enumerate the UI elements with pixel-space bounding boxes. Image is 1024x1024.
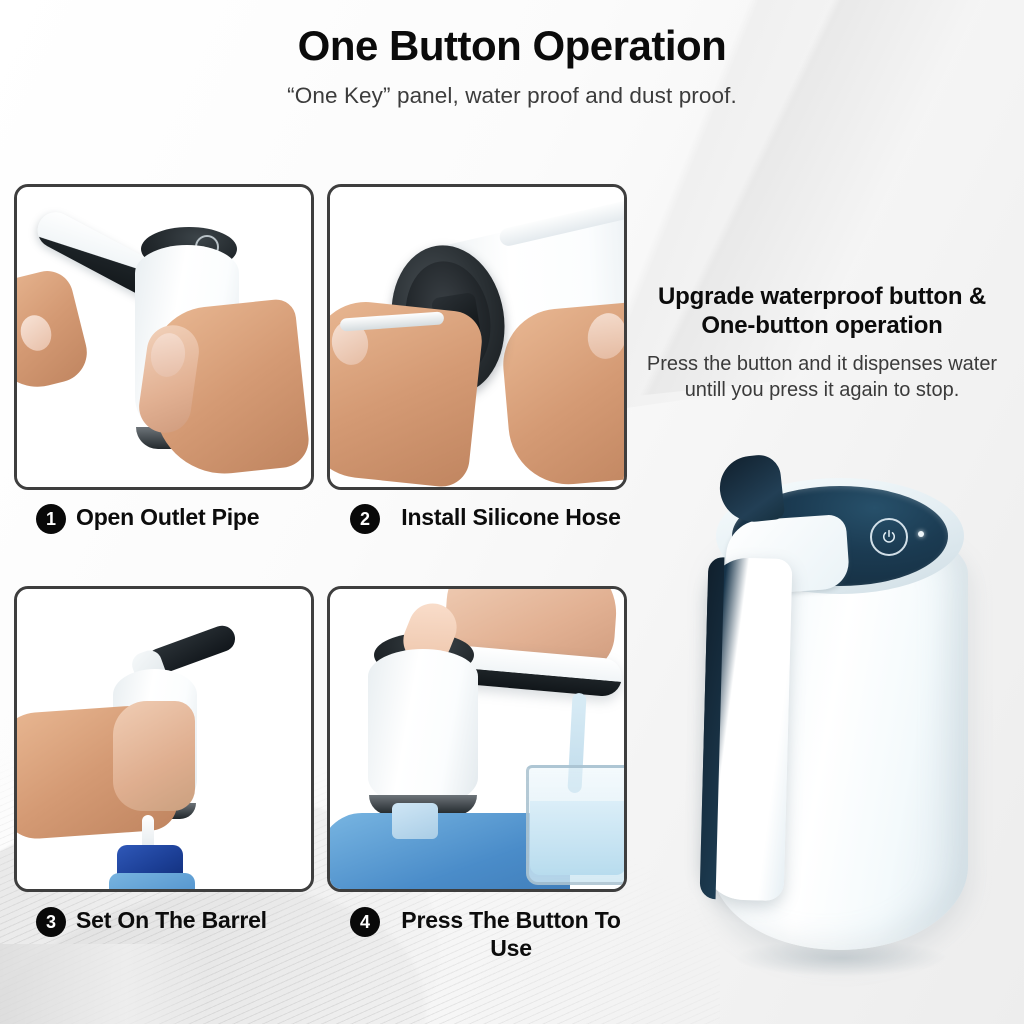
page-title: One Button Operation	[0, 22, 1024, 69]
hero-product-image	[690, 462, 990, 982]
step-label-3: Set On The Barrel	[76, 906, 267, 934]
step-caption-2: 2 Install Silicone Hose	[350, 503, 632, 534]
step-image-panel-4	[327, 586, 627, 892]
feature-heading-line-2: One-button operation	[636, 311, 1008, 340]
step-label-4: Press The Button To Use	[390, 906, 632, 962]
step-badge-2: 2	[350, 504, 380, 534]
step-1-illustration	[17, 187, 311, 487]
feature-heading-line-1: Upgrade waterproof button &	[636, 282, 1008, 311]
step-label-2: Install Silicone Hose	[390, 503, 632, 531]
step-image-panel-2	[327, 184, 627, 490]
led-indicator-dot	[918, 531, 924, 537]
step-3-illustration	[17, 589, 311, 889]
fingers	[113, 701, 195, 811]
feature-text-block: Upgrade waterproof button & One-button o…	[636, 282, 1008, 403]
feature-heading: Upgrade waterproof button & One-button o…	[636, 282, 1008, 341]
infographic-canvas: One Button Operation “One Key” panel, wa…	[0, 0, 1024, 1024]
step-badge-1: 1	[36, 504, 66, 534]
water-in-glass	[530, 801, 626, 875]
step-badge-4: 4	[350, 907, 380, 937]
hero-spout-dark-edge	[700, 557, 725, 899]
hero-outlet-pipe-folded	[700, 557, 793, 901]
water-barrel	[109, 873, 195, 892]
step-caption-4: 4 Press The Button To Use	[350, 906, 632, 962]
step-badge-3: 3	[36, 907, 66, 937]
barrel-neck	[392, 803, 438, 839]
power-button-icon[interactable]	[870, 518, 908, 556]
background-corner-shade	[0, 944, 210, 1024]
step-caption-1: 1 Open Outlet Pipe	[36, 503, 318, 534]
step-2-illustration	[330, 187, 624, 487]
step-label-1: Open Outlet Pipe	[76, 503, 259, 531]
step-caption-3: 3 Set On The Barrel	[36, 906, 318, 937]
header: One Button Operation “One Key” panel, wa…	[0, 22, 1024, 109]
step-image-panel-3	[14, 586, 314, 892]
step-4-illustration	[330, 589, 624, 889]
step-image-panel-1	[14, 184, 314, 490]
feature-body-text: Press the button and it dispenses water …	[636, 351, 1008, 403]
page-subtitle: “One Key” panel, water proof and dust pr…	[0, 83, 1024, 109]
dispenser-body	[368, 649, 478, 807]
